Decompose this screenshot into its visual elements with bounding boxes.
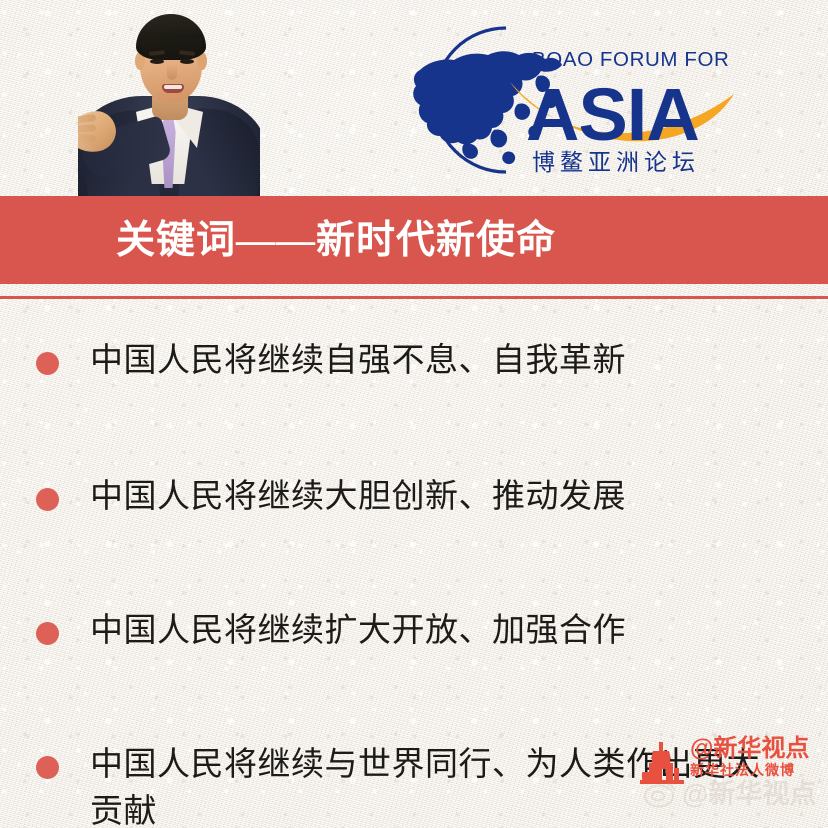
logo-tagline-en: BOAO FORUM FOR [532, 48, 729, 71]
bullet-dot-icon [36, 622, 59, 645]
portrait-finger [78, 124, 96, 132]
boao-forum-logo: BOAO FORUM FOR ASIA 博鳌亚洲论坛 [398, 18, 742, 182]
list-item-text: 中国人民将继续大胆创新、推动发展 [90, 474, 626, 521]
weibo-ghost-watermark: @新华视点 [644, 780, 816, 808]
page-title: 关键词——新时代新使命 [116, 221, 556, 260]
watermark-handle: @新华视点 [690, 736, 809, 762]
watermark-subtitle: 新华社法人微博 [690, 762, 809, 779]
list-item-text: 中国人民将继续自强不息、自我革新 [90, 338, 626, 385]
logo-wordmark: ASIA [526, 73, 699, 156]
weibo-ghost-handle: @新华视点 [682, 780, 816, 808]
logo-tagline-cn: 博鳌亚洲论坛 [532, 150, 700, 175]
portrait-eye-left [150, 59, 164, 64]
poster-root: BOAO FORUM FOR ASIA 博鳌亚洲论坛 关键词——新时代新使命 中… [0, 0, 828, 828]
weibo-eye-icon [644, 780, 678, 808]
bullet-dot-icon [36, 352, 59, 375]
portrait-eye-right [180, 59, 194, 64]
portrait-bottom-fade [78, 178, 260, 196]
header: BOAO FORUM FOR ASIA 博鳌亚洲论坛 [0, 0, 828, 196]
portrait-mouth [162, 84, 184, 93]
bullet-dot-icon [36, 488, 59, 511]
list-item: 中国人民将继续大胆创新、推动发展 [0, 474, 828, 558]
list-item: 中国人民将继续自强不息、自我革新 [0, 338, 828, 422]
list-item: 中国人民将继续扩大开放、加强合作 [0, 608, 828, 692]
portrait-nose [167, 64, 177, 80]
banner-underline-rule [0, 296, 828, 299]
xinhua-tower-logo-icon [640, 742, 688, 784]
watermark-text-group: @新华视点 新华社法人微博 [690, 736, 809, 779]
publisher-watermark: @新华视点 新华社法人微博 @新华视点 [616, 736, 814, 820]
list-item-text: 中国人民将继续扩大开放、加强合作 [90, 608, 626, 655]
speaker-portrait [78, 0, 260, 196]
title-banner: 关键词——新时代新使命 [0, 196, 828, 284]
bullet-dot-icon [36, 756, 59, 779]
